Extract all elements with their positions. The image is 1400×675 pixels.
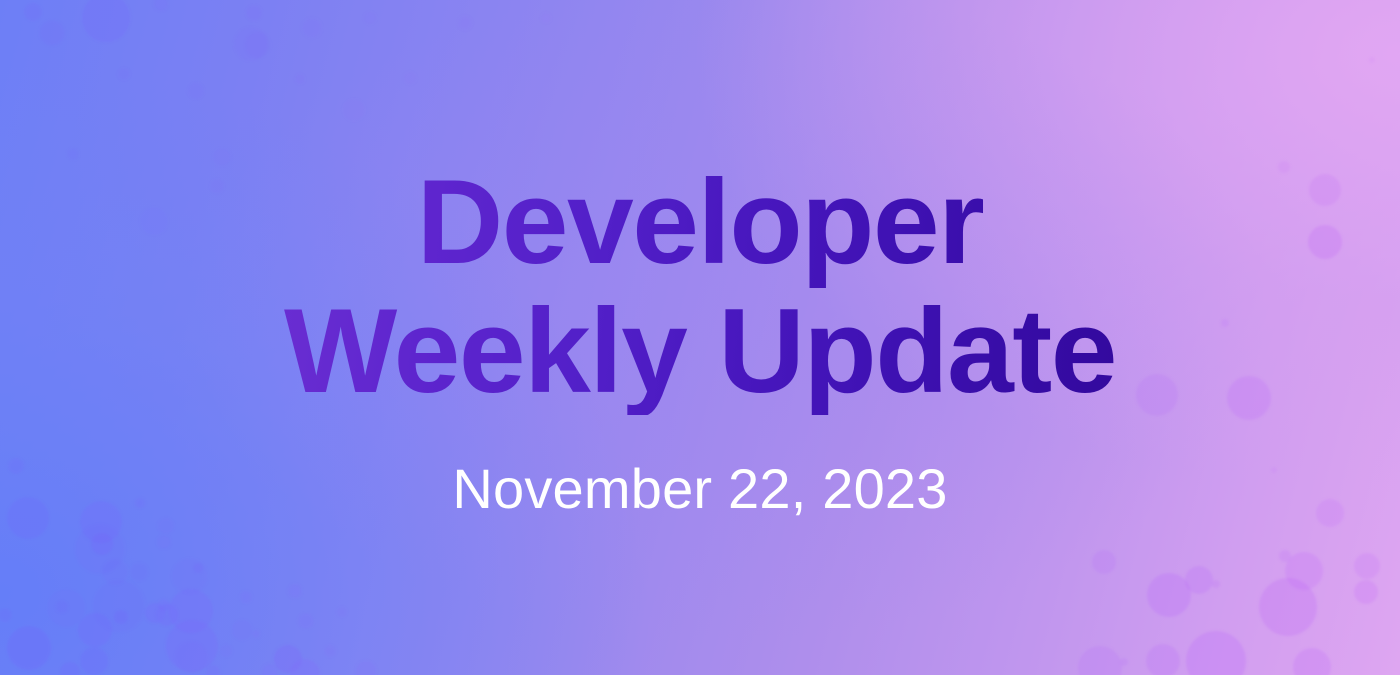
page-title: Developer Weekly Update bbox=[284, 158, 1116, 415]
issue-date: November 22, 2023 bbox=[452, 461, 947, 517]
title-line-2: Weekly Update bbox=[284, 287, 1116, 415]
developer-weekly-banner: Developer Weekly Update November 22, 202… bbox=[0, 0, 1400, 675]
banner-content: Developer Weekly Update November 22, 202… bbox=[0, 0, 1400, 675]
title-line-1: Developer bbox=[284, 158, 1116, 286]
